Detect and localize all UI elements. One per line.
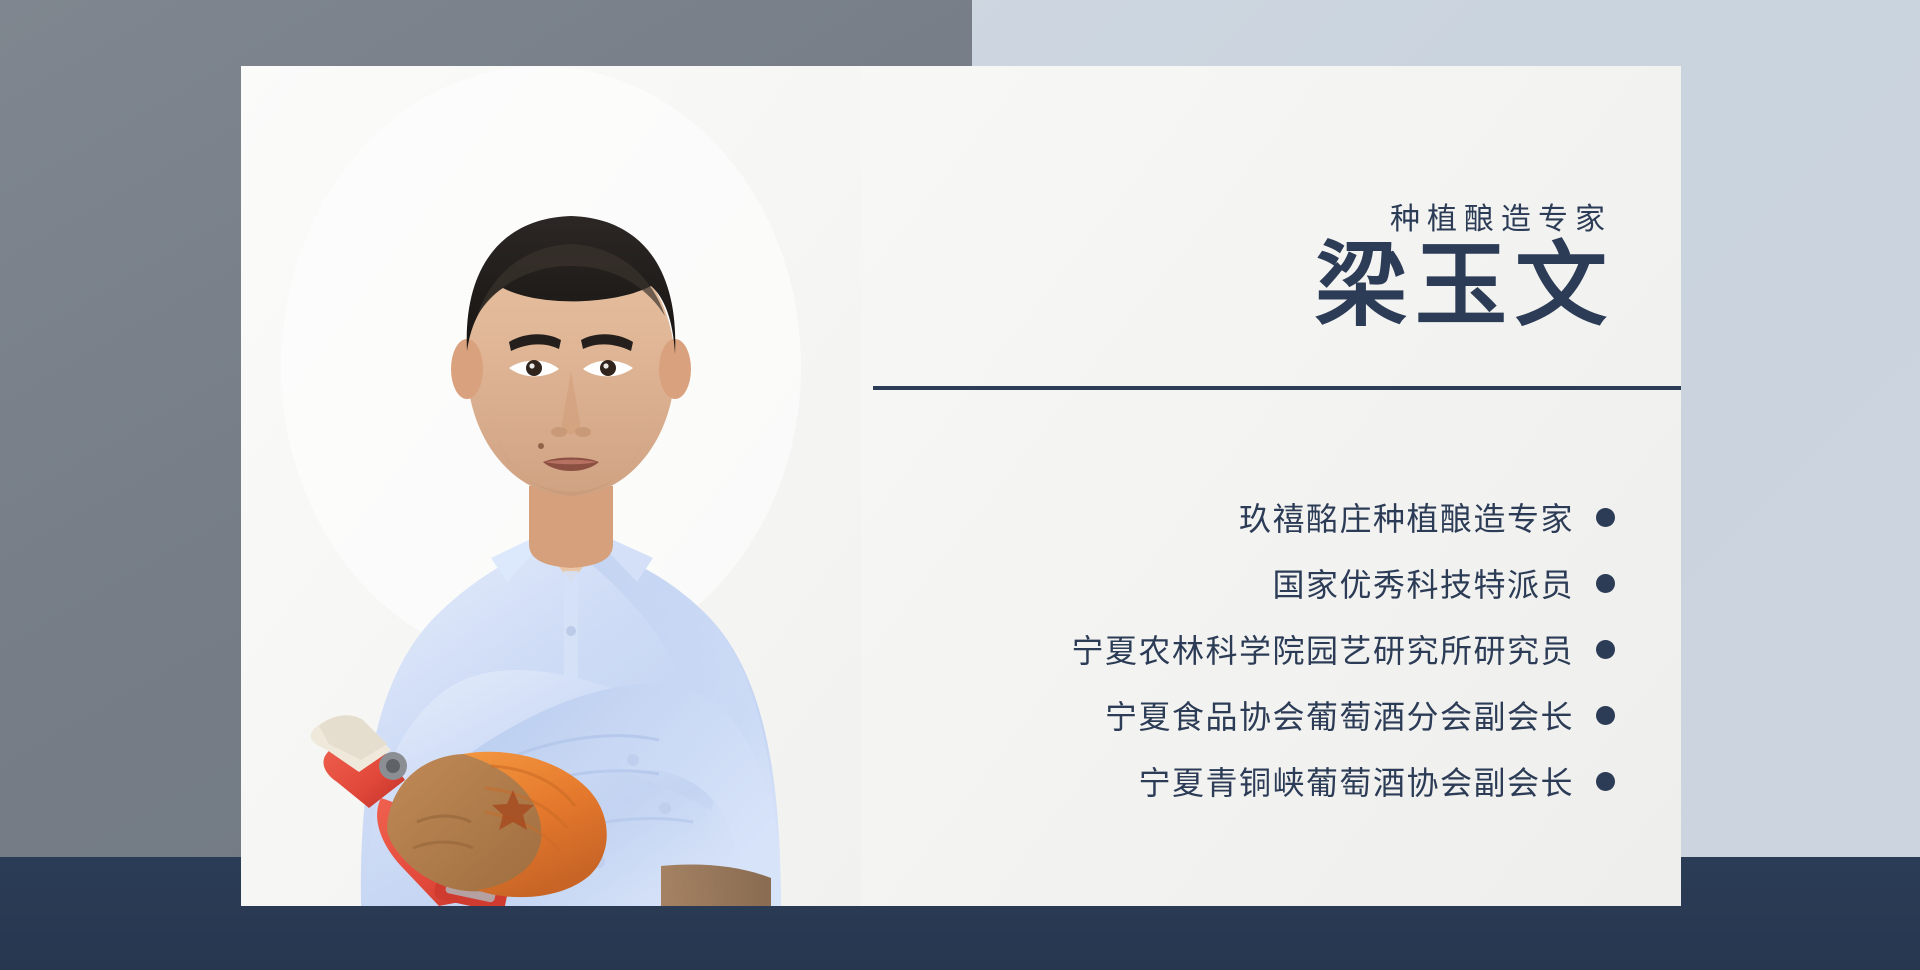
bullet-dot-icon <box>1596 640 1615 659</box>
bullet-dot-icon <box>1596 772 1615 791</box>
divider-line <box>873 386 1681 390</box>
profile-text-column: 种植酿造专家 梁玉文 玖禧酩庄种植酿造专家 国家优秀科技特派员 宁夏农林科学院园… <box>941 66 1681 906</box>
credential-label: 玖禧酩庄种植酿造专家 <box>1239 494 1574 540</box>
list-item: 国家优秀科技特派员 <box>945 550 1615 616</box>
expert-name: 梁玉文 <box>1307 238 1615 335</box>
credential-label: 国家优秀科技特派员 <box>1272 560 1574 606</box>
header-divider <box>873 382 1681 394</box>
expert-profile-banner: 种植酿造专家 梁玉文 玖禧酩庄种植酿造专家 国家优秀科技特派员 宁夏农林科学院园… <box>0 0 1920 970</box>
credential-label: 宁夏青铜峡葡萄酒协会副会长 <box>1138 758 1574 804</box>
list-item: 玖禧酩庄种植酿造专家 <box>945 484 1615 550</box>
bullet-dot-icon <box>1596 706 1615 725</box>
profile-card: 种植酿造专家 梁玉文 玖禧酩庄种植酿造专家 国家优秀科技特派员 宁夏农林科学院园… <box>241 66 1681 906</box>
credential-label: 宁夏食品协会葡萄酒分会副会长 <box>1105 692 1574 738</box>
credentials-list: 玖禧酩庄种植酿造专家 国家优秀科技特派员 宁夏农林科学院园艺研究所研究员 宁夏食… <box>945 484 1615 814</box>
bullet-dot-icon <box>1596 508 1615 527</box>
list-item: 宁夏食品协会葡萄酒分会副会长 <box>945 682 1615 748</box>
list-item: 宁夏农林科学院园艺研究所研究员 <box>945 616 1615 682</box>
expert-subtitle: 种植酿造专家 <box>1383 194 1612 238</box>
expert-portrait-photo <box>241 66 861 906</box>
credential-label: 宁夏农林科学院园艺研究所研究员 <box>1071 626 1574 672</box>
bullet-dot-icon <box>1596 574 1615 593</box>
list-item: 宁夏青铜峡葡萄酒协会副会长 <box>945 748 1615 814</box>
